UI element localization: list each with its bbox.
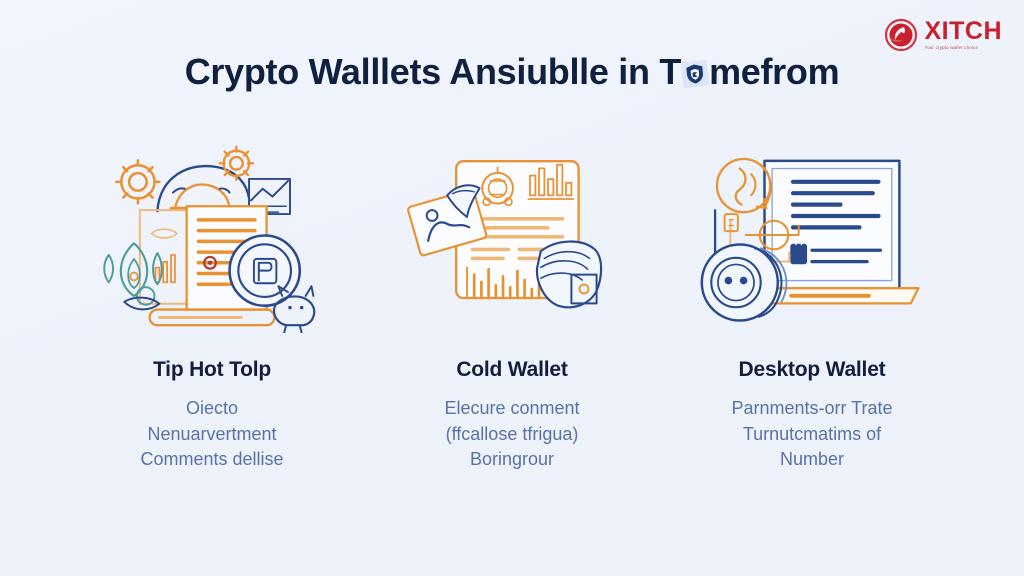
wallet-column-body: Oiecto Nenuarvertment Comments dellise [140, 396, 283, 473]
wallet-body-line: Comments dellise [140, 447, 283, 473]
wallet-column-title: Tip Hot Tolp [153, 358, 271, 382]
wallet-columns: Tip Hot Tolp Oiecto Nenuarvertment Comme… [0, 140, 1024, 473]
wallet-column-desktop: Desktop Wallet Parnments-orr Trate Turnu… [662, 140, 962, 473]
page-title-text: Crypto Walllets Ansiublle in Tmefrom [185, 52, 840, 92]
wallet-column-body: Parnments-orr Trate Turnutcmatims of Num… [731, 396, 892, 473]
xitch-circular-swoosh-icon [884, 18, 918, 52]
shield-badge-icon [681, 60, 710, 89]
hot-wallet-illustration [92, 140, 332, 330]
wallet-column-cold: Cold Wallet Elecure conment (ffcallose t… [362, 140, 662, 473]
wallet-column-title: Cold Wallet [456, 358, 567, 382]
page-title: Crypto Walllets Ansiublle in Tmefrom [0, 52, 1024, 92]
page-title-part-1: Crypto Walllets Ansiublle in T [185, 51, 681, 92]
cold-wallet-illustration [392, 140, 632, 330]
wallet-column-body: Elecure conment (ffcallose tfrigua) Bori… [444, 396, 579, 473]
wallet-body-line: Turnutcmatims of [731, 422, 892, 448]
brand-logo: XITCH Your crypto wallet choice [884, 18, 1003, 52]
wallet-body-line: Nenuarvertment [140, 422, 283, 448]
wallet-body-line: Boringrour [444, 447, 579, 473]
wallet-column-hot: Tip Hot Tolp Oiecto Nenuarvertment Comme… [62, 140, 362, 473]
wallet-body-line: Elecure conment [444, 396, 579, 422]
brand-tagline: Your crypto wallet choice [925, 46, 979, 50]
desktop-wallet-illustration [692, 140, 932, 330]
brand-name: XITCH [925, 19, 1003, 44]
slide-canvas: XITCH Your crypto wallet choice Crypto W… [0, 0, 1024, 576]
wallet-body-line: (ffcallose tfrigua) [444, 422, 579, 448]
wallet-body-line: Oiecto [140, 396, 283, 422]
page-title-part-2: mefrom [709, 51, 839, 92]
wallet-body-line: Parnments-orr Trate [731, 396, 892, 422]
wallet-column-title: Desktop Wallet [739, 358, 886, 382]
brand-wordmark: XITCH Your crypto wallet choice [925, 19, 1003, 50]
wallet-body-line: Number [731, 447, 892, 473]
